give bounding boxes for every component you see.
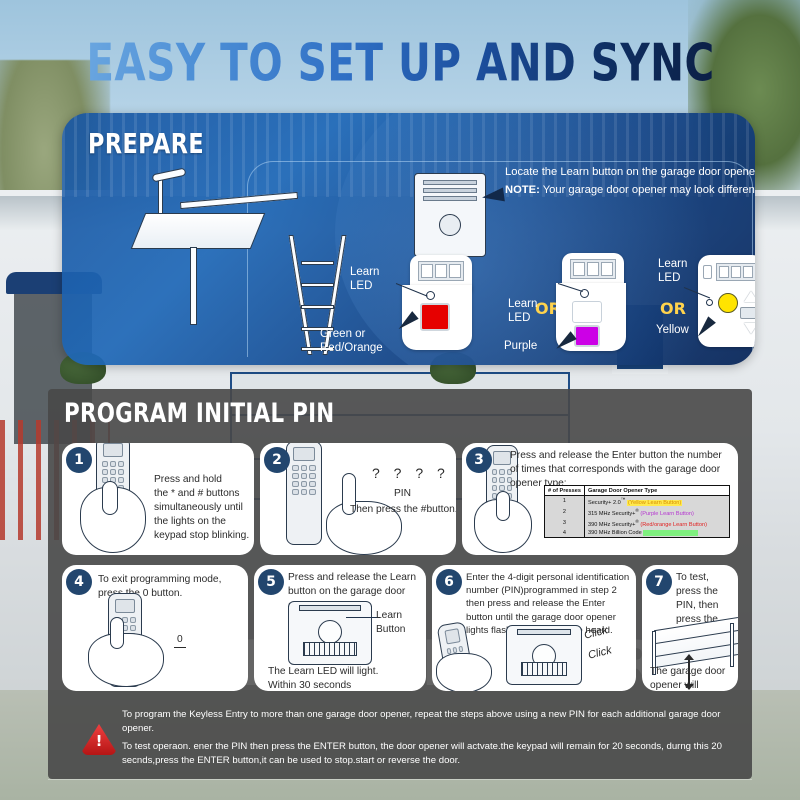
prepare-panel: PREPARE Locate the Learn button on the g… bbox=[62, 113, 755, 365]
table-cell-opener-type: 315 MHz Security+® (Purple Learn Button) bbox=[584, 507, 729, 518]
learn-button-red bbox=[420, 303, 450, 331]
step-card-6: Enter the 4-digit personal identificatio… bbox=[432, 565, 636, 691]
leader-line-learn-button bbox=[346, 617, 380, 618]
table-cell-presses: 3 bbox=[545, 518, 585, 529]
opener-illustration-6 bbox=[506, 625, 582, 685]
step-2-text: Then press the #button. bbox=[350, 503, 456, 517]
prepare-note-line2: Your garage door opener may look differe… bbox=[543, 184, 755, 196]
step-1-text: Press and holdthe * and # buttonssimulta… bbox=[154, 473, 252, 543]
table-header-presses: # of Presses bbox=[545, 486, 585, 496]
step-2-question-marks: ? ? ? ? bbox=[372, 465, 450, 481]
footer-divider bbox=[48, 779, 752, 780]
prepare-note-line1: Locate the Learn button on the garage do… bbox=[505, 163, 755, 181]
table-cell-learn-button-note: (Yellow Learn Button) bbox=[627, 500, 682, 506]
table-cell-presses: 4 bbox=[545, 529, 585, 538]
opener-variant-2: LearnLED Purple bbox=[544, 253, 674, 351]
carport-post-icon bbox=[190, 247, 197, 325]
variant-2-learn-led-label: LearnLED bbox=[508, 297, 537, 326]
hand-illustration-6 bbox=[436, 653, 492, 691]
finger-illustration-1 bbox=[102, 481, 118, 515]
step-5-callout: LearnButton bbox=[376, 609, 424, 637]
table-cell-learn-button-note: (Green Learn Button) bbox=[643, 530, 698, 536]
up-button-icon bbox=[744, 291, 755, 302]
table-cell-learn-button-note: (Red/orange Learn Button) bbox=[640, 522, 707, 528]
table-header-row: # of Presses Garage Door Opener Type bbox=[545, 486, 730, 496]
table-cell-learn-button-note: (Purple Learn Button) bbox=[640, 511, 693, 517]
carport-canopy-icon bbox=[131, 213, 266, 249]
variant-1-color-label: Green orRed/Orange bbox=[320, 327, 416, 356]
keypad-illustration-2 bbox=[286, 443, 322, 545]
step-4-zero-key-label: 0 bbox=[174, 633, 186, 648]
table-row: 4390 MHz Billion Code (Green Learn Butto… bbox=[545, 529, 730, 538]
step-card-3: Press and release the Enter button the n… bbox=[462, 443, 738, 555]
table-header-type: Garage Door Opener Type bbox=[584, 486, 729, 496]
prepare-note-label: NOTE: bbox=[505, 184, 540, 196]
table-row: 2315 MHz Security+® (Purple Learn Button… bbox=[545, 507, 730, 518]
opener-variant-3: LearnLED Yellow bbox=[666, 255, 755, 353]
prepare-panel-title: PREPARE bbox=[88, 128, 204, 160]
hand-illustration-4 bbox=[88, 633, 164, 687]
stop-button-icon bbox=[740, 307, 755, 319]
table-cell-opener-type: 390 MHz Billion Code (Green Learn Button… bbox=[584, 529, 729, 538]
table-row: 1Security+ 2.0™ (Yellow Learn Button) bbox=[545, 496, 730, 507]
step-2-pin-label: PIN bbox=[394, 487, 411, 501]
table-cell-opener-type: Security+ 2.0™ (Yellow Learn Button) bbox=[584, 496, 729, 507]
opener-illustration-5 bbox=[288, 601, 372, 665]
variant-3-learn-led-label: LearnLED bbox=[658, 257, 687, 286]
step-badge-5: 5 bbox=[258, 569, 284, 595]
variant-3-color-label: Yellow bbox=[656, 323, 689, 337]
page-title: EASY TO SET UP AND SYNC bbox=[86, 33, 714, 93]
opener-variant-1: LearnLED Green orRed/Orange bbox=[362, 255, 494, 350]
step-badge-4: 4 bbox=[66, 569, 92, 595]
down-button-icon bbox=[744, 323, 755, 334]
garage-opener-illustration bbox=[414, 173, 486, 257]
table-cell-opener-type: 390 MHz Security+® (Red/orange Learn But… bbox=[584, 518, 729, 529]
step-badge-2: 2 bbox=[264, 447, 290, 473]
prepare-note: Locate the Learn button on the garage do… bbox=[505, 163, 755, 200]
opener-type-table: # of Presses Garage Door Opener Type 1Se… bbox=[544, 485, 730, 538]
learn-button-yellow bbox=[718, 293, 738, 313]
finger-illustration-4 bbox=[110, 617, 124, 649]
step-7-footer: The garage dooropener will activate. bbox=[650, 665, 736, 691]
footer-line-1: To program the Keyless Entry to more tha… bbox=[122, 708, 752, 736]
step-6-click-2: Click bbox=[587, 644, 613, 661]
finger-illustration-3 bbox=[496, 491, 510, 521]
footer-line-2: To test operaon. ener the PIN then press… bbox=[122, 740, 752, 768]
step-badge-3: 3 bbox=[466, 447, 492, 473]
learn-button-purple bbox=[574, 325, 600, 347]
table-cell-presses: 2 bbox=[545, 507, 585, 518]
footer-text-block: To program the Keyless Entry to more tha… bbox=[122, 708, 752, 772]
infographic-root: EASY TO SET UP AND SYNC PREPARE bbox=[0, 0, 800, 800]
step-badge-1: 1 bbox=[66, 447, 92, 473]
program-panel-title: PROGRAM INITIAL PIN bbox=[64, 399, 334, 429]
variant-2-color-label: Purple bbox=[504, 339, 537, 353]
step-badge-7: 7 bbox=[646, 569, 672, 595]
step-5-footer: The Learn LED will light.Within 30 secon… bbox=[268, 665, 424, 691]
learn-led-indicator-3 bbox=[706, 299, 713, 306]
table-cell-presses: 1 bbox=[545, 496, 585, 507]
table-row: 3390 MHz Security+® (Red/orange Learn Bu… bbox=[545, 518, 730, 529]
garage-door-illustration-7 bbox=[642, 613, 738, 663]
step-badge-6: 6 bbox=[436, 569, 462, 595]
title-container: EASY TO SET UP AND SYNC bbox=[0, 38, 800, 89]
variant-1-learn-led-label: LearnLED bbox=[350, 265, 379, 294]
